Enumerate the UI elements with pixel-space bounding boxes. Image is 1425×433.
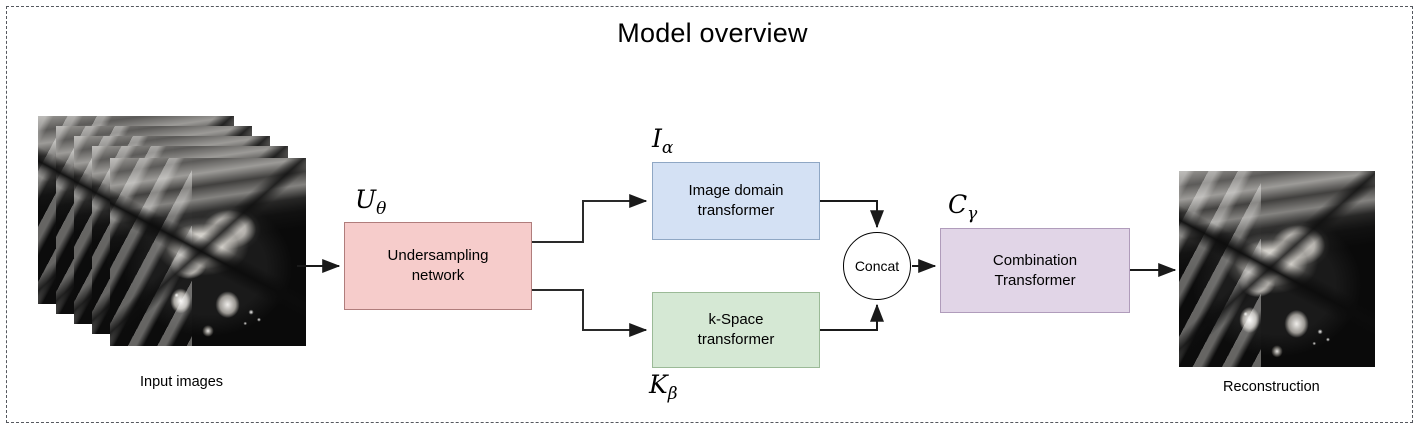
- input-mri-slice-front: [110, 158, 306, 346]
- combination-transformer-label-line2: Transformer: [994, 272, 1075, 289]
- image-domain-transformer-box[interactable]: Image domaintransformer: [652, 162, 820, 240]
- symbol-k-beta-base: K: [649, 370, 668, 399]
- input-images-caption: Input images: [140, 374, 223, 390]
- kspace-transformer-box[interactable]: k-Spacetransformer: [652, 292, 820, 368]
- image-domain-transformer-label-line1: Image domain: [688, 182, 783, 199]
- reconstruction-caption: Reconstruction: [1223, 379, 1320, 395]
- symbol-k-beta-sub: β: [668, 384, 678, 404]
- figure-title: Model overview: [0, 18, 1425, 49]
- undersampling-network-label: Undersamplingnetwork: [382, 246, 495, 286]
- input-image-stack: [38, 116, 308, 366]
- symbol-c-gamma-base: C: [948, 190, 967, 219]
- symbol-i-alpha-label: Iα: [652, 124, 673, 158]
- symbol-c-gamma-sub: γ: [967, 204, 977, 224]
- kspace-transformer-label: k-Spacetransformer: [692, 310, 781, 350]
- symbol-i-alpha-sub: α: [662, 138, 673, 158]
- symbol-u-theta-label: Uθ: [355, 185, 386, 219]
- symbol-k-beta-label: Kβ: [649, 370, 678, 404]
- symbol-i-alpha-base: I: [652, 124, 662, 153]
- image-domain-transformer-label-line2: transformer: [698, 202, 775, 219]
- model-overview-figure: Model overview: [0, 0, 1425, 433]
- combination-transformer-label: CombinationTransformer: [987, 251, 1083, 291]
- combination-transformer-box[interactable]: CombinationTransformer: [940, 228, 1130, 313]
- undersampling-network-box[interactable]: Undersamplingnetwork: [344, 222, 532, 310]
- concat-node-label: Concat: [855, 258, 899, 274]
- concat-node[interactable]: Concat: [843, 232, 911, 300]
- undersampling-network-label-line2: network: [412, 267, 465, 284]
- combination-transformer-label-line1: Combination: [993, 252, 1077, 269]
- reconstruction-image: [1179, 171, 1375, 367]
- kspace-transformer-label-line1: k-Space: [708, 311, 763, 328]
- symbol-u-theta-sub: θ: [376, 199, 386, 219]
- symbol-u-theta-base: U: [355, 185, 376, 214]
- undersampling-network-label-line1: Undersampling: [388, 247, 489, 264]
- image-domain-transformer-label: Image domaintransformer: [682, 181, 789, 221]
- kspace-transformer-label-line2: transformer: [698, 331, 775, 348]
- symbol-c-gamma-label: Cγ: [948, 190, 977, 224]
